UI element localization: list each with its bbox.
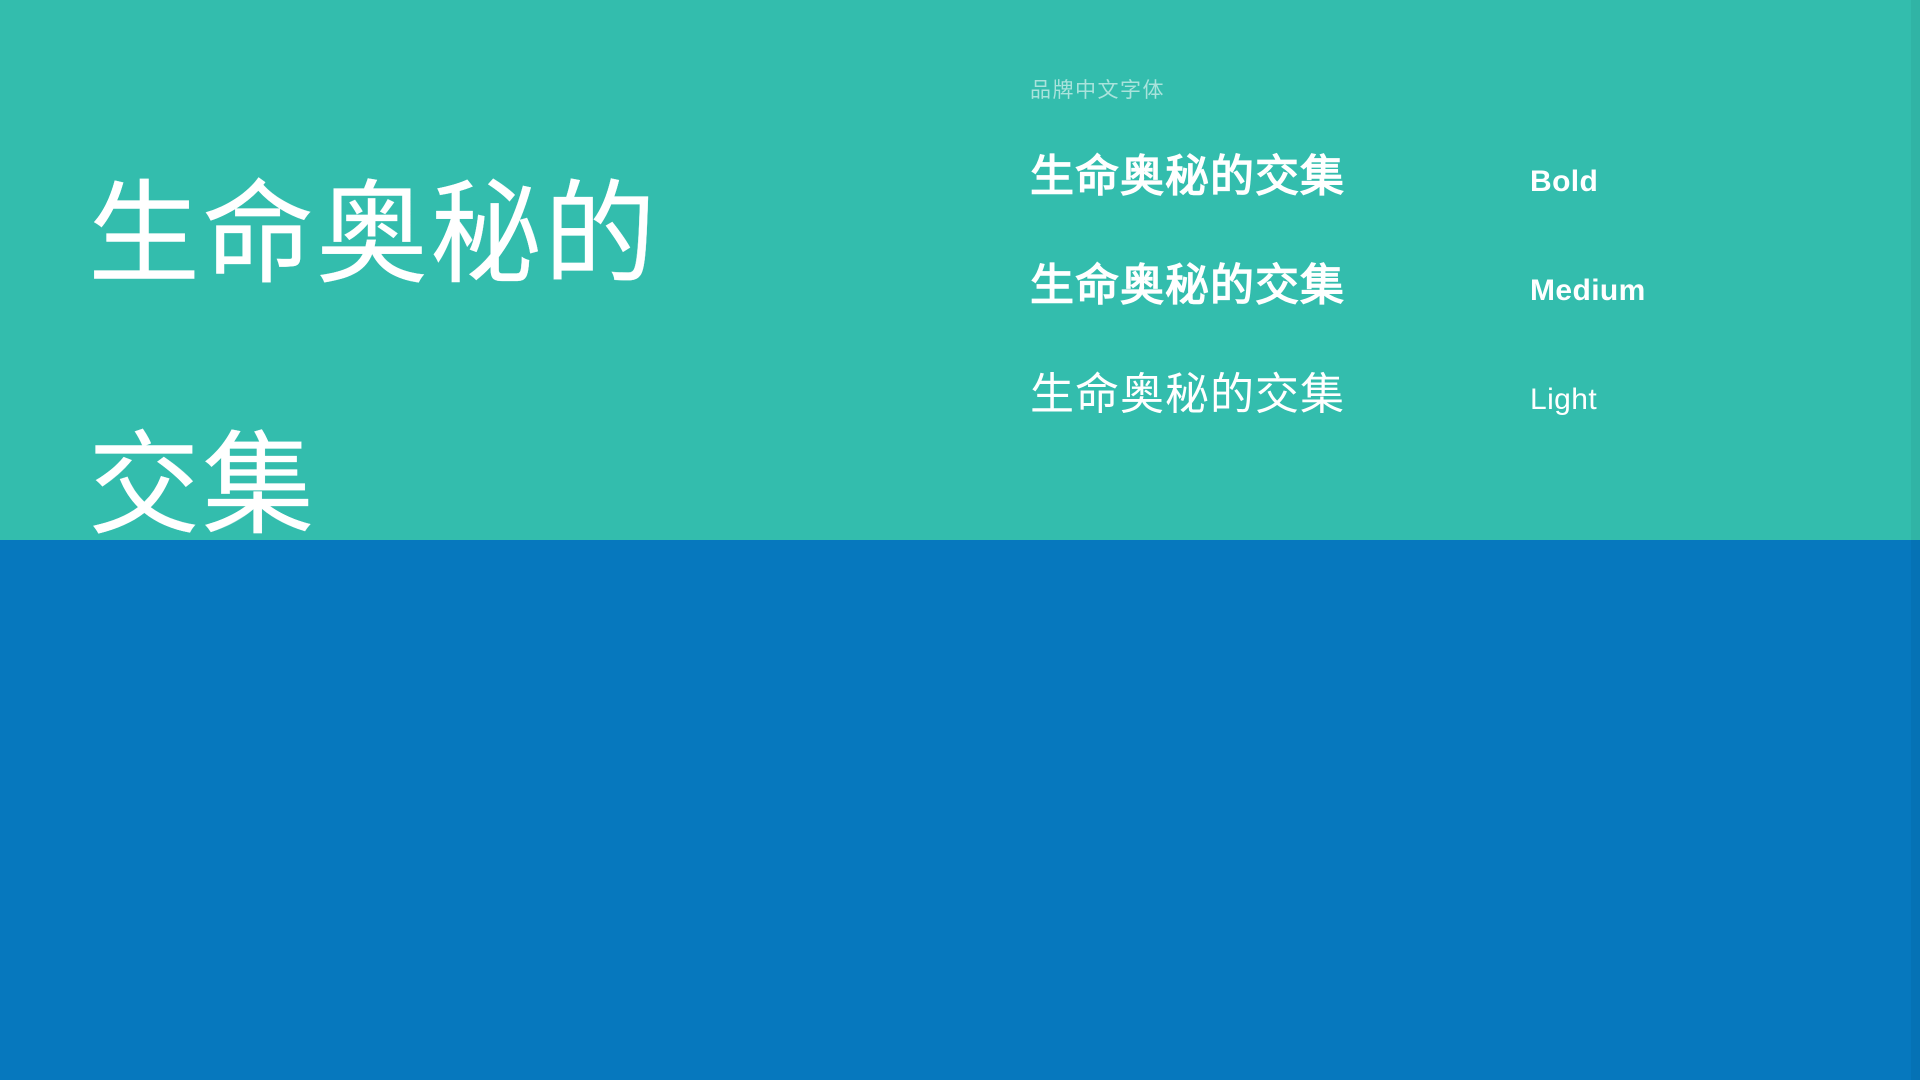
chinese-specimen-weight-label: Medium — [1530, 274, 1646, 308]
typography-specimen-board: 生命奥秘的 交集 品牌中文字体 生命奥秘的交集 Bold 生命奥秘的交集 Med… — [0, 0, 1920, 1080]
english-font-panel: Brand English Font Mysteries of life Bol… — [0, 540, 1920, 1080]
chinese-display-headline: 生命奥秘的 交集 — [88, 48, 658, 540]
chinese-display-line-2: 交集 — [88, 421, 316, 540]
chinese-specimen-row-medium: 生命奥秘的交集 Medium — [1030, 249, 1850, 358]
chinese-specimen-sample: 生命奥秘的交集 — [1030, 358, 1530, 422]
chinese-specimen-row-light: 生命奥秘的交集 Light — [1030, 358, 1850, 467]
panel-right-edge-strip — [1911, 540, 1920, 1080]
chinese-specimen-weight-label: Light — [1530, 383, 1597, 417]
chinese-specimen-sample: 生命奥秘的交集 — [1030, 140, 1530, 204]
chinese-display-line-1: 生命奥秘的 — [88, 170, 658, 300]
chinese-specimen-row-bold: 生命奥秘的交集 Bold — [1030, 140, 1850, 249]
chinese-section-caption: 品牌中文字体 — [1030, 74, 1165, 104]
panel-right-edge-strip — [1911, 0, 1920, 540]
chinese-specimen-list: 生命奥秘的交集 Bold 生命奥秘的交集 Medium 生命奥秘的交集 Ligh… — [1030, 140, 1850, 467]
chinese-specimen-weight-label: Bold — [1530, 165, 1598, 199]
chinese-specimen-sample: 生命奥秘的交集 — [1030, 249, 1530, 313]
chinese-font-panel: 生命奥秘的 交集 品牌中文字体 生命奥秘的交集 Bold 生命奥秘的交集 Med… — [0, 0, 1920, 540]
